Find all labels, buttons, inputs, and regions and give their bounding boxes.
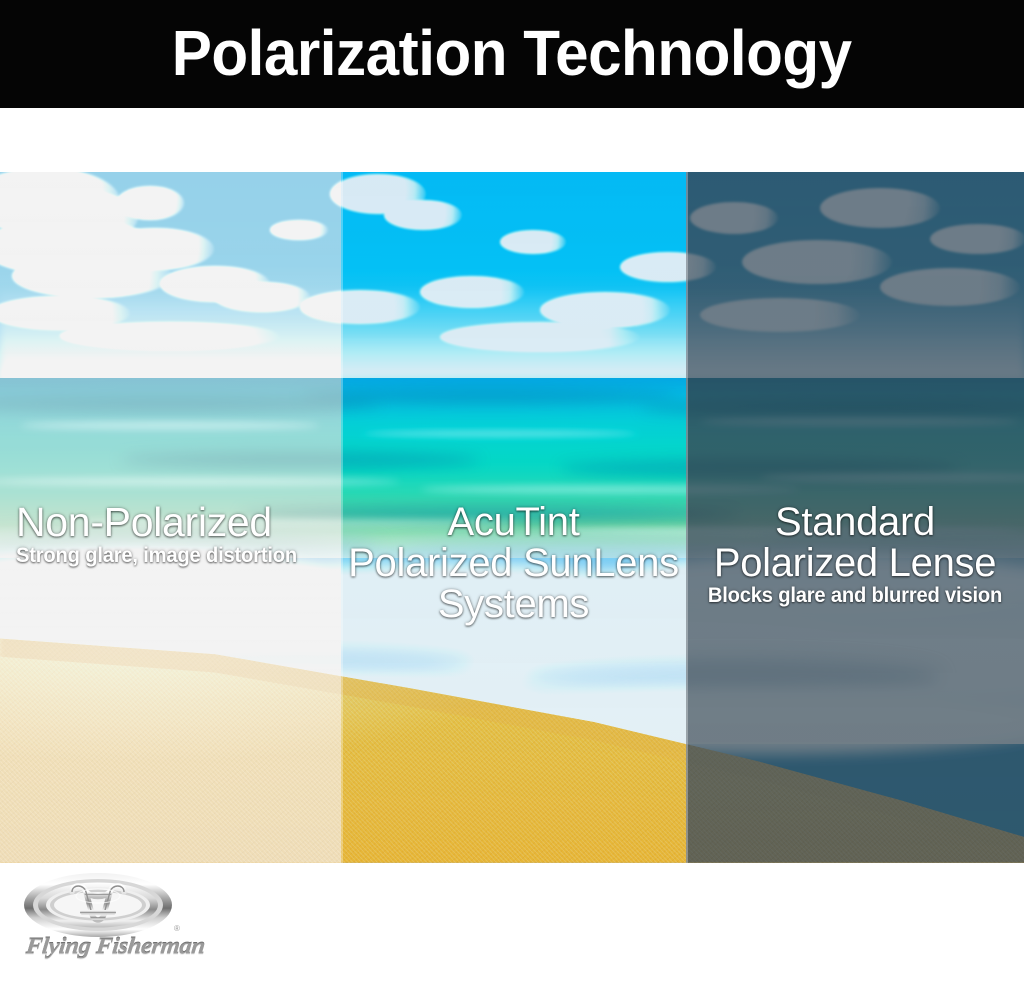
panel-title-standard-line2: Polarized Lense: [686, 543, 1024, 584]
lens-comparison-figure: Non-Polarized Strong glare, image distor…: [0, 172, 1024, 863]
panel-title-acutint: AcuTint: [341, 502, 686, 543]
registered-trademark-icon: ®: [174, 924, 180, 933]
horizon-haze: [0, 287, 1024, 379]
polarization-technology-infographic: Polarization Technology: [0, 0, 1024, 984]
header-bar: Polarization Technology: [0, 0, 1024, 108]
flying-fisherman-oval-monogram-icon: [22, 872, 174, 938]
panel-subtitle-non-polarized: Strong glare, image distortion: [16, 544, 297, 568]
page-title: Polarization Technology: [172, 21, 852, 85]
brand-logo: ® Flying Fisherman: [14, 872, 204, 976]
panel-title-acutint-line3: Systems: [341, 584, 686, 625]
panel-title-standard: Standard: [686, 502, 1024, 543]
panel-title-non-polarized: Non-Polarized: [16, 502, 309, 544]
brand-wordmark: Flying Fisherman: [25, 935, 199, 958]
panel-caption-non-polarized: Non-Polarized Strong glare, image distor…: [16, 502, 309, 567]
sky-region: [0, 172, 1024, 379]
panel-caption-standard-polarized: Standard Polarized Lense Blocks glare an…: [686, 502, 1024, 607]
panel-subtitle-standard: Blocks glare and blurred vision: [693, 584, 1017, 608]
panel-caption-acutint: AcuTint Polarized SunLens Systems: [341, 502, 686, 624]
panel-title-acutint-line2: Polarized SunLens: [341, 543, 686, 584]
